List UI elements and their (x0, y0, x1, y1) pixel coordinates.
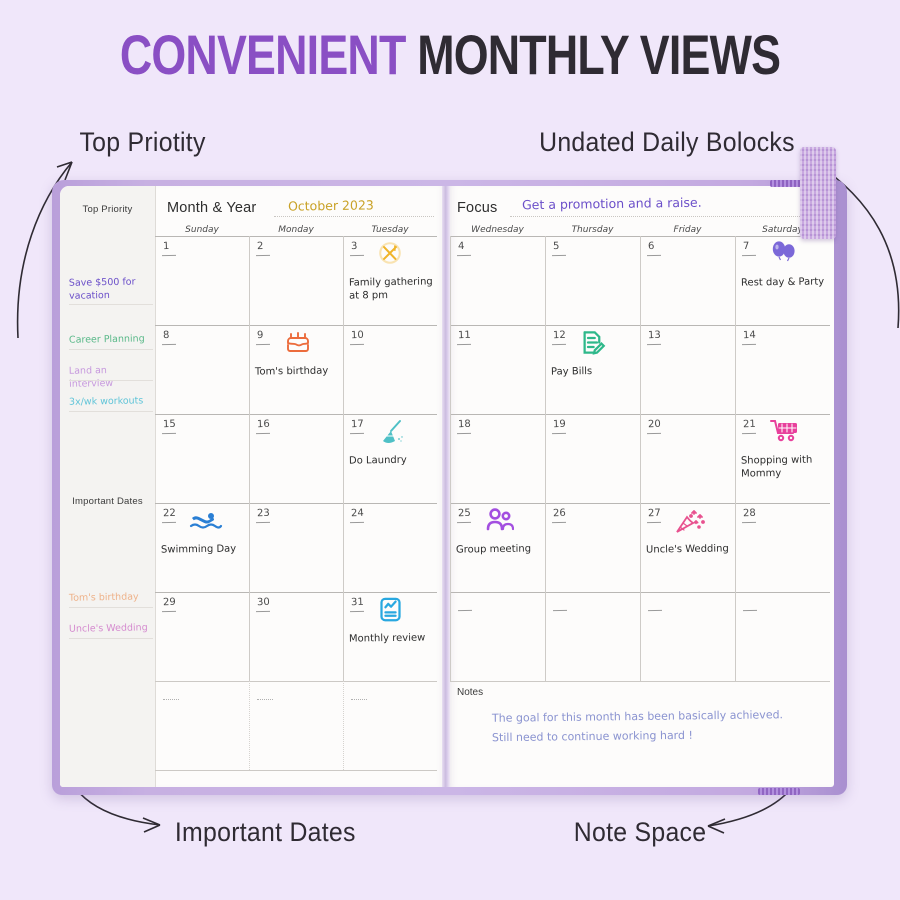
event-label[interactable]: Group meeting (456, 542, 543, 556)
day-number-underline (742, 522, 756, 523)
calendar-day-cell[interactable]: 10 (343, 325, 437, 414)
day-number: 7 (743, 241, 750, 252)
calendar-day-cell[interactable]: 30 (249, 592, 343, 681)
day-number: 4 (458, 241, 465, 252)
day-number: 8 (163, 330, 170, 341)
day-number: 14 (743, 330, 756, 341)
day-number-underline (552, 433, 566, 434)
focus-rule (510, 216, 828, 217)
page-title: CONVENIENT MONTHLY VIEWS (90, 22, 810, 87)
day-number-underline (256, 433, 270, 434)
notes-line-2[interactable]: Still need to continue working hard ! (492, 727, 693, 747)
calendar-day-cell[interactable]: 19 (545, 414, 640, 503)
calendar-day-cell[interactable]: 20 (640, 414, 735, 503)
calendar-day-cell[interactable] (249, 681, 343, 770)
annotation-note-space: Note Space (574, 817, 707, 848)
calendar-day-cell[interactable]: 25Group meeting (450, 503, 545, 592)
dow-sunday: Sunday (155, 225, 249, 235)
day-number-underline (350, 522, 364, 523)
day-number-underline (350, 611, 364, 612)
sidebar-rule (69, 411, 153, 412)
day-number-underline (458, 610, 472, 611)
group-icon (484, 507, 514, 538)
day-number: 15 (163, 419, 176, 430)
day-number-underline (552, 522, 566, 523)
calendar-day-cell[interactable]: 13 (640, 325, 735, 414)
calendar-day-cell[interactable]: 14 (735, 325, 830, 414)
day-number: 10 (351, 330, 364, 341)
sidebar: Top Priority Save $500 for vacation Care… (60, 186, 156, 787)
day-number: 31 (351, 597, 364, 608)
calendar-day-cell[interactable]: 2 (249, 236, 343, 325)
calendar-day-cell[interactable]: 29 (155, 592, 249, 681)
cart-icon (769, 418, 801, 449)
day-number-underline (648, 610, 662, 611)
sidebar-rule (69, 638, 153, 639)
party-popper-icon (674, 507, 706, 540)
month-year-rule (274, 216, 434, 217)
sidebar-priority-item-3[interactable]: 3x/wk workouts (69, 394, 153, 409)
focus-value[interactable]: Get a promotion and a raise. (522, 195, 702, 213)
day-number-underline (647, 433, 661, 434)
calendar-day-cell[interactable]: 17Do Laundry (343, 414, 437, 503)
sidebar-date-item-0[interactable]: Tom's birthday (69, 590, 153, 605)
day-number-underline (162, 255, 176, 256)
planner-notebook: Top Priority Save $500 for vacation Care… (52, 180, 847, 795)
calendar-day-cell[interactable]: 4 (450, 236, 545, 325)
day-number-placeholder (163, 699, 179, 700)
day-number: 6 (648, 241, 655, 252)
swimmer-icon (189, 507, 223, 538)
grid-hline (450, 681, 830, 682)
calendar-day-cell[interactable] (155, 681, 249, 770)
event-label[interactable]: Rest day & Party (741, 275, 828, 289)
day-number: 29 (163, 597, 176, 608)
sidebar-rule (69, 380, 153, 381)
calendar-day-cell[interactable]: 8 (155, 325, 249, 414)
day-number-underline (457, 255, 471, 256)
sidebar-priority-item-0[interactable]: Save $500 for vacation (69, 275, 153, 303)
day-number-underline (553, 610, 567, 611)
sidebar-priority-header: Top Priority (60, 204, 155, 215)
day-number-underline (256, 255, 270, 256)
grid-hline (155, 770, 437, 771)
day-number: 17 (351, 419, 364, 430)
day-number: 20 (648, 419, 661, 430)
day-number: 2 (257, 241, 264, 252)
report-icon (377, 596, 404, 628)
day-number-underline (350, 344, 364, 345)
day-number: 21 (743, 419, 756, 430)
calendar-day-cell[interactable]: 24 (343, 503, 437, 592)
notebook-spine (442, 186, 450, 787)
day-number: 3 (351, 241, 358, 252)
day-number-underline (742, 433, 756, 434)
calendar-day-cell[interactable]: 28 (735, 503, 830, 592)
day-number-underline (647, 255, 661, 256)
day-number: 18 (458, 419, 471, 430)
calendar-day-cell[interactable] (640, 592, 735, 681)
calendar-day-cell[interactable]: 21Shopping with Mommy (735, 414, 830, 503)
event-label[interactable]: Family gathering at 8 pm (349, 275, 435, 302)
day-number: 27 (648, 508, 661, 519)
broom-icon (377, 418, 407, 453)
day-number-underline (256, 611, 270, 612)
bill-icon (579, 329, 606, 361)
event-label[interactable]: Do Laundry (349, 453, 435, 467)
calendar-day-cell[interactable]: 6 (640, 236, 735, 325)
annotation-undated-daily-blocks: Undated Daily Bolocks (539, 127, 795, 158)
day-number-underline (552, 344, 566, 345)
sidebar-date-item-1[interactable]: Uncle's Wedding (69, 621, 153, 636)
day-number: 28 (743, 508, 756, 519)
calendar-day-cell[interactable]: 18 (450, 414, 545, 503)
event-label[interactable]: Pay Bills (551, 364, 638, 378)
dow-tuesday: Tuesday (343, 225, 437, 235)
day-number-placeholder (351, 699, 367, 700)
elastic-band[interactable] (800, 147, 836, 239)
day-number: 26 (553, 508, 566, 519)
calendar-day-cell[interactable]: 3Family gathering at 8 pm (343, 236, 437, 325)
sidebar-rule (69, 349, 153, 350)
day-number: 9 (257, 330, 264, 341)
day-number-underline (162, 611, 176, 612)
calendar-day-cell[interactable]: 5 (545, 236, 640, 325)
month-year-value[interactable]: October 2023 (288, 197, 374, 213)
event-label[interactable]: Monthly review (349, 631, 435, 645)
focus-label: Focus (457, 200, 498, 216)
day-number-underline (647, 344, 661, 345)
calendar-day-cell[interactable]: 11 (450, 325, 545, 414)
day-number-underline (457, 522, 471, 523)
cutlery-icon (377, 240, 403, 271)
sidebar-rule (69, 607, 153, 608)
sidebar-priority-item-1[interactable]: Career Planning (69, 332, 153, 347)
sidebar-dates-header: Important Dates (60, 496, 155, 507)
title-part-2: MONTHLY VIEWS (417, 23, 780, 86)
sidebar-rule (69, 304, 153, 305)
day-number: 16 (257, 419, 270, 430)
notes-line-1[interactable]: The goal for this month has been basical… (492, 706, 783, 728)
dow-monday: Monday (249, 225, 343, 235)
day-number-underline (256, 522, 270, 523)
event-label[interactable]: Swimming Day (161, 542, 247, 556)
dow-friday: Friday (640, 225, 735, 235)
day-number-underline (162, 522, 176, 523)
dow-thursday: Thursday (545, 225, 640, 235)
dow-wednesday: Wednesday (450, 225, 545, 235)
day-number-underline (457, 433, 471, 434)
day-number-underline (647, 522, 661, 523)
calendar-day-cell[interactable]: 31Monthly review (343, 592, 437, 681)
annotation-important-dates: Important Dates (175, 817, 356, 848)
event-label[interactable]: Uncle's Wedding (646, 542, 733, 556)
day-number: 1 (163, 241, 170, 252)
month-year-label: Month & Year (167, 200, 256, 216)
calendar-day-cell[interactable]: 23 (249, 503, 343, 592)
cake-icon (283, 329, 313, 360)
day-number-underline (350, 433, 364, 434)
calendar-day-cell[interactable]: 1 (155, 236, 249, 325)
event-label[interactable]: Shopping with Mommy (741, 453, 828, 480)
day-number: 13 (648, 330, 661, 341)
day-number-underline (256, 344, 270, 345)
calendar-day-cell[interactable]: 26 (545, 503, 640, 592)
calendar-day-cell[interactable]: 7Rest day & Party (735, 236, 830, 325)
calendar-day-cell[interactable]: 27Uncle's Wedding (640, 503, 735, 592)
day-number-underline (350, 255, 364, 256)
calendar-day-cell[interactable] (735, 592, 830, 681)
day-number: 19 (553, 419, 566, 430)
day-number: 5 (553, 241, 560, 252)
day-number: 11 (458, 330, 471, 341)
day-number-placeholder (257, 699, 273, 700)
day-number-underline (162, 433, 176, 434)
day-number-underline (743, 610, 757, 611)
day-number: 25 (458, 508, 471, 519)
sidebar-priority-item-2[interactable]: Land an interview (69, 363, 153, 391)
title-part-1: CONVENIENT (120, 23, 406, 86)
day-number: 30 (257, 597, 270, 608)
event-label[interactable]: Tom's birthday (255, 364, 341, 378)
calendar-day-cell[interactable]: 12Pay Bills (545, 325, 640, 414)
day-number: 23 (257, 508, 270, 519)
calendar-day-cell[interactable]: 22Swimming Day (155, 503, 249, 592)
day-number-underline (457, 344, 471, 345)
spine-tab-bottom (758, 788, 800, 795)
annotation-top-priority: Top Priotity (79, 127, 205, 158)
notes-label: Notes (457, 687, 483, 698)
day-number: 22 (163, 508, 176, 519)
day-number-underline (552, 255, 566, 256)
calendar-day-cell[interactable]: 15 (155, 414, 249, 503)
calendar-day-cell[interactable]: 9Tom's birthday (249, 325, 343, 414)
day-number-underline (162, 344, 176, 345)
calendar-day-cell[interactable] (545, 592, 640, 681)
day-number-underline (742, 255, 756, 256)
day-number-underline (742, 344, 756, 345)
day-number: 24 (351, 508, 364, 519)
calendar-day-cell[interactable] (343, 681, 437, 770)
balloons-icon (769, 240, 799, 273)
calendar-day-cell[interactable] (450, 592, 545, 681)
day-number: 12 (553, 330, 566, 341)
calendar-day-cell[interactable]: 16 (249, 414, 343, 503)
